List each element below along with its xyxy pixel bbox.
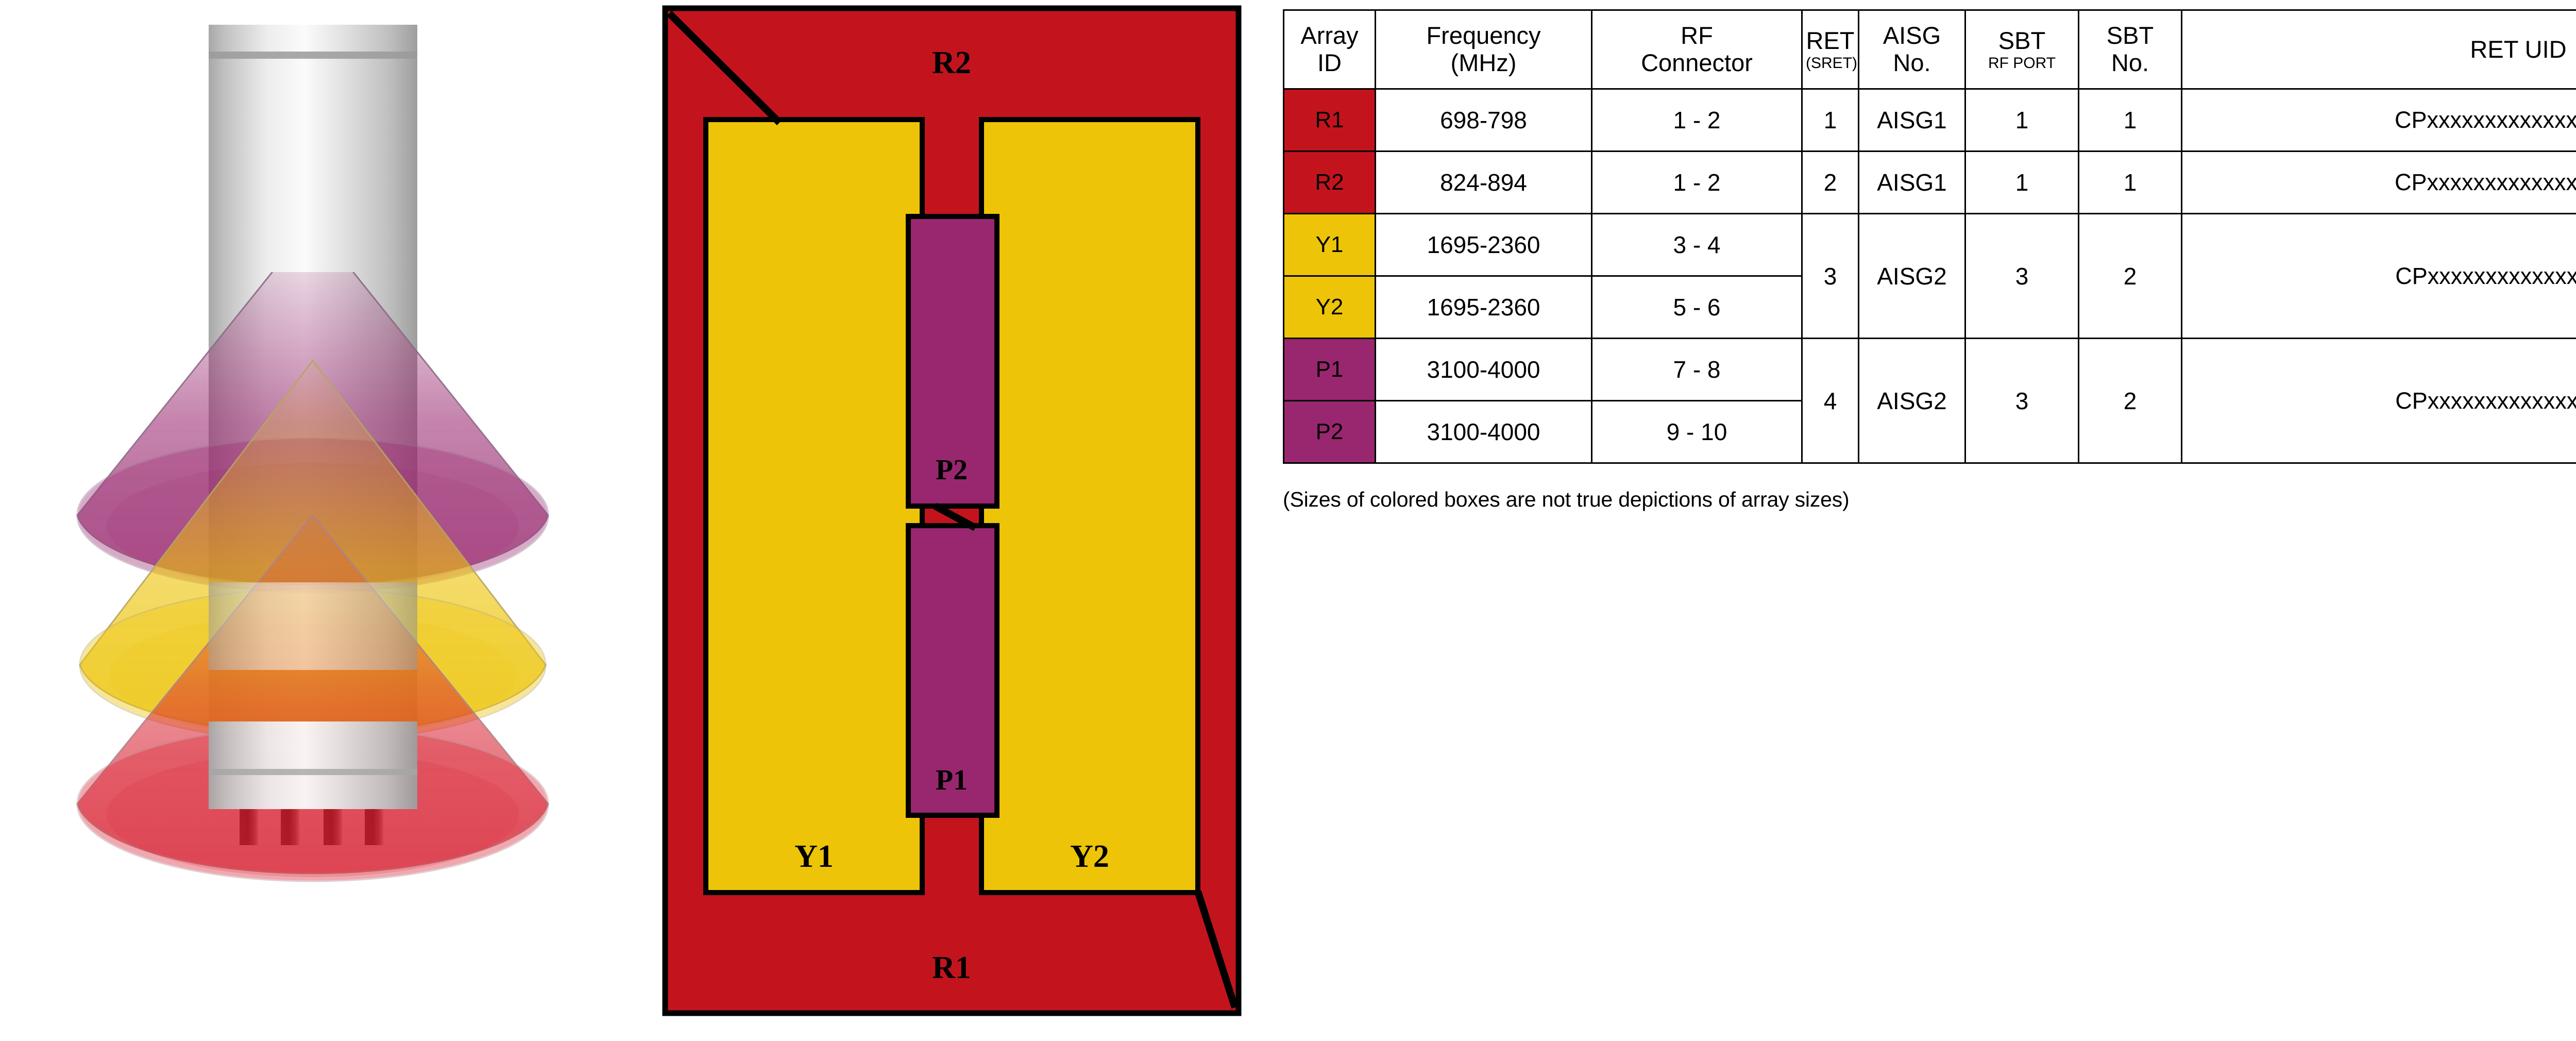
table-caption: (Sizes of colored boxes are not true dep…	[1283, 488, 2576, 512]
cell-frequency-y1: 1695-2360	[1376, 214, 1592, 276]
array-label-p1: P1	[936, 764, 968, 796]
header-ret: RET (SRET)	[1802, 10, 1859, 89]
array-spec-table: Array ID Frequency (MHz) RF Connector RE…	[1283, 9, 2576, 464]
header-array-id: Array ID	[1284, 10, 1376, 89]
cell-aisg-r1: AISG1	[1859, 89, 1965, 152]
header-frequency: Frequency (MHz)	[1376, 10, 1592, 89]
cell-rf-connector-p1: 7 - 8	[1592, 339, 1802, 401]
antenna-illustration-panel	[0, 0, 654, 1041]
table-row: R1 698-798 1 - 2 1 AISG1 1 1 CPxxxxxxxxx…	[1284, 89, 2576, 152]
array-block-y1	[706, 120, 922, 893]
cell-aisg-r2: AISG1	[1859, 152, 1965, 214]
cell-array-id-y2: Y2	[1284, 276, 1376, 339]
cell-sbt-rf-port-p: 3	[1965, 339, 2079, 463]
header-rf-connector: RF Connector	[1592, 10, 1802, 89]
cell-ret-uid-p: CPxxxxxxxxxxxxxxxxP1	[2182, 339, 2576, 463]
cell-array-id-r2: R2	[1284, 152, 1376, 214]
array-label-y1: Y1	[794, 839, 834, 874]
array-layout-panel: R2 R1 Y1 Y2 P2 P1	[662, 5, 1242, 1031]
table-row: R2 824-894 1 - 2 2 AISG1 1 1 CPxxxxxxxxx…	[1284, 152, 2576, 214]
cell-ret-r2: 2	[1802, 152, 1859, 214]
cell-ret-uid-y: CPxxxxxxxxxxxxxxxxY1	[2182, 214, 2576, 339]
array-label-r1: R1	[932, 950, 971, 985]
cell-ret-uid-r2: CPxxxxxxxxxxxxxxxxR2	[2182, 152, 2576, 214]
cell-array-id-r1: R1	[1284, 89, 1376, 152]
cell-ret-uid-r1: CPxxxxxxxxxxxxxxxxR1	[2182, 89, 2576, 152]
array-layout-diagram: R2 R1 Y1 Y2 P2 P1	[662, 5, 1242, 1031]
cell-aisg-p: AISG2	[1859, 339, 1965, 463]
cell-sbt-no-r1: 1	[2079, 89, 2182, 152]
array-block-y2	[981, 120, 1198, 893]
table-header-row: Array ID Frequency (MHz) RF Connector RE…	[1284, 10, 2576, 89]
cell-aisg-y: AISG2	[1859, 214, 1965, 339]
cell-array-id-p2: P2	[1284, 401, 1376, 463]
cell-array-id-y1: Y1	[1284, 214, 1376, 276]
array-label-r2: R2	[932, 45, 971, 80]
cell-rf-connector-r1: 1 - 2	[1592, 89, 1802, 152]
array-label-y2: Y2	[1070, 839, 1109, 874]
cell-rf-connector-r2: 1 - 2	[1592, 152, 1802, 214]
header-sbt-rf-port: SBT RF PORT	[1965, 10, 2079, 89]
cell-ret-r1: 1	[1802, 89, 1859, 152]
cell-sbt-rf-port-r2: 1	[1965, 152, 2079, 214]
cell-sbt-no-y: 2	[2079, 214, 2182, 339]
header-aisg-no: AISG No.	[1859, 10, 1965, 89]
spec-table-panel: Array ID Frequency (MHz) RF Connector RE…	[1283, 9, 2576, 1030]
table-row: P1 3100-4000 7 - 8 4 AISG2 3 2 CPxxxxxxx…	[1284, 339, 2576, 401]
table-row: Y1 1695-2360 3 - 4 3 AISG2 3 2 CPxxxxxxx…	[1284, 214, 2576, 276]
header-sbt-no: SBT No.	[2079, 10, 2182, 89]
cell-rf-connector-p2: 9 - 10	[1592, 401, 1802, 463]
cell-frequency-p2: 3100-4000	[1376, 401, 1592, 463]
cell-frequency-r2: 824-894	[1376, 152, 1592, 214]
header-ret-uid: RET UID	[2182, 10, 2576, 89]
cell-sbt-rf-port-r1: 1	[1965, 89, 2079, 152]
cell-sbt-rf-port-y: 3	[1965, 214, 2079, 339]
cell-sbt-no-p: 2	[2079, 339, 2182, 463]
figure-root: R2 R1 Y1 Y2 P2 P1 Array ID Frequency (MH	[0, 0, 2576, 1041]
cell-frequency-r1: 698-798	[1376, 89, 1592, 152]
antenna-illustration	[0, 0, 654, 1041]
cell-sbt-no-r2: 1	[2079, 152, 2182, 214]
cell-rf-connector-y2: 5 - 6	[1592, 276, 1802, 339]
cell-frequency-p1: 3100-4000	[1376, 339, 1592, 401]
cell-array-id-p1: P1	[1284, 339, 1376, 401]
array-label-p2: P2	[936, 454, 968, 486]
cell-ret-y: 3	[1802, 214, 1859, 339]
cell-frequency-y2: 1695-2360	[1376, 276, 1592, 339]
cell-ret-p: 4	[1802, 339, 1859, 463]
cell-rf-connector-y1: 3 - 4	[1592, 214, 1802, 276]
